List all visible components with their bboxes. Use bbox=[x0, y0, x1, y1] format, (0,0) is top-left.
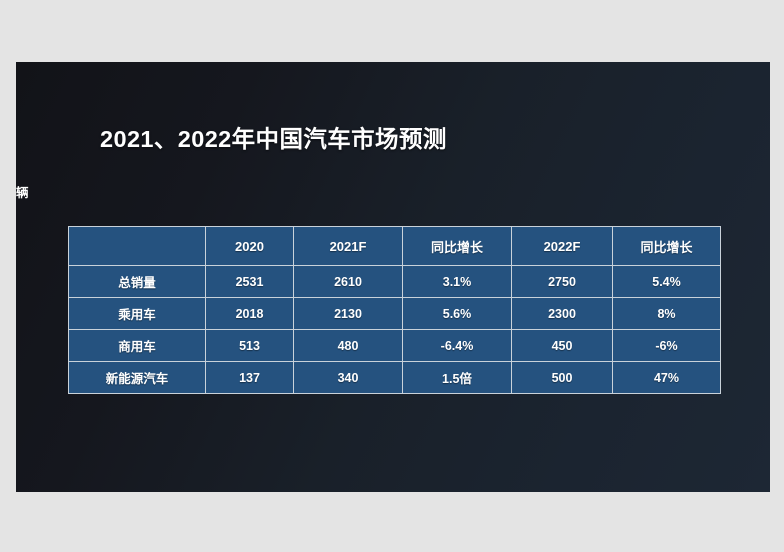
cell-2020: 2018 bbox=[206, 298, 294, 330]
cell-growth-2021: 3.1% bbox=[403, 266, 512, 298]
cell-growth-2022: 8% bbox=[613, 298, 721, 330]
cell-growth-2021: -6.4% bbox=[403, 330, 512, 362]
table-row: 总销量 2531 2610 3.1% 2750 5.4% bbox=[69, 266, 721, 298]
cell-2022f: 2750 bbox=[512, 266, 613, 298]
cell-2020: 513 bbox=[206, 330, 294, 362]
slide-canvas: 2021、2022年中国汽车市场预测 单位：万辆 2020 2021F 同比增长… bbox=[16, 62, 770, 492]
slide-page: 2021、2022年中国汽车市场预测 单位：万辆 2020 2021F 同比增长… bbox=[0, 0, 784, 552]
table-header-row: 2020 2021F 同比增长 2022F 同比增长 bbox=[69, 227, 721, 266]
cell-2020: 2531 bbox=[206, 266, 294, 298]
cell-2022f: 500 bbox=[512, 362, 613, 394]
table-row: 乘用车 2018 2130 5.6% 2300 8% bbox=[69, 298, 721, 330]
cell-2022f: 2300 bbox=[512, 298, 613, 330]
row-label: 乘用车 bbox=[69, 298, 206, 330]
table-row: 商用车 513 480 -6.4% 450 -6% bbox=[69, 330, 721, 362]
table-header-2021f: 2021F bbox=[294, 227, 403, 266]
cell-2021f: 480 bbox=[294, 330, 403, 362]
cell-growth-2022: 47% bbox=[613, 362, 721, 394]
unit-label: 单位：万辆 bbox=[16, 182, 720, 201]
row-label: 总销量 bbox=[69, 266, 206, 298]
cell-2021f: 2130 bbox=[294, 298, 403, 330]
cell-2021f: 2610 bbox=[294, 266, 403, 298]
cell-growth-2021: 5.6% bbox=[403, 298, 512, 330]
table-header-2022f: 2022F bbox=[512, 227, 613, 266]
cell-2021f: 340 bbox=[294, 362, 403, 394]
page-title: 2021、2022年中国汽车市场预测 bbox=[100, 120, 770, 154]
row-label: 商用车 bbox=[69, 330, 206, 362]
table-header-blank bbox=[69, 227, 206, 266]
row-label: 新能源汽车 bbox=[69, 362, 206, 394]
cell-growth-2021: 1.5倍 bbox=[403, 362, 512, 394]
table-header-growth-2021: 同比增长 bbox=[403, 227, 512, 266]
table-header-growth-2022: 同比增长 bbox=[613, 227, 721, 266]
cell-2020: 137 bbox=[206, 362, 294, 394]
cell-growth-2022: -6% bbox=[613, 330, 721, 362]
table-row: 新能源汽车 137 340 1.5倍 500 47% bbox=[69, 362, 721, 394]
forecast-table: 2020 2021F 同比增长 2022F 同比增长 总销量 2531 2610… bbox=[68, 226, 721, 394]
table-header-2020: 2020 bbox=[206, 227, 294, 266]
cell-2022f: 450 bbox=[512, 330, 613, 362]
cell-growth-2022: 5.4% bbox=[613, 266, 721, 298]
